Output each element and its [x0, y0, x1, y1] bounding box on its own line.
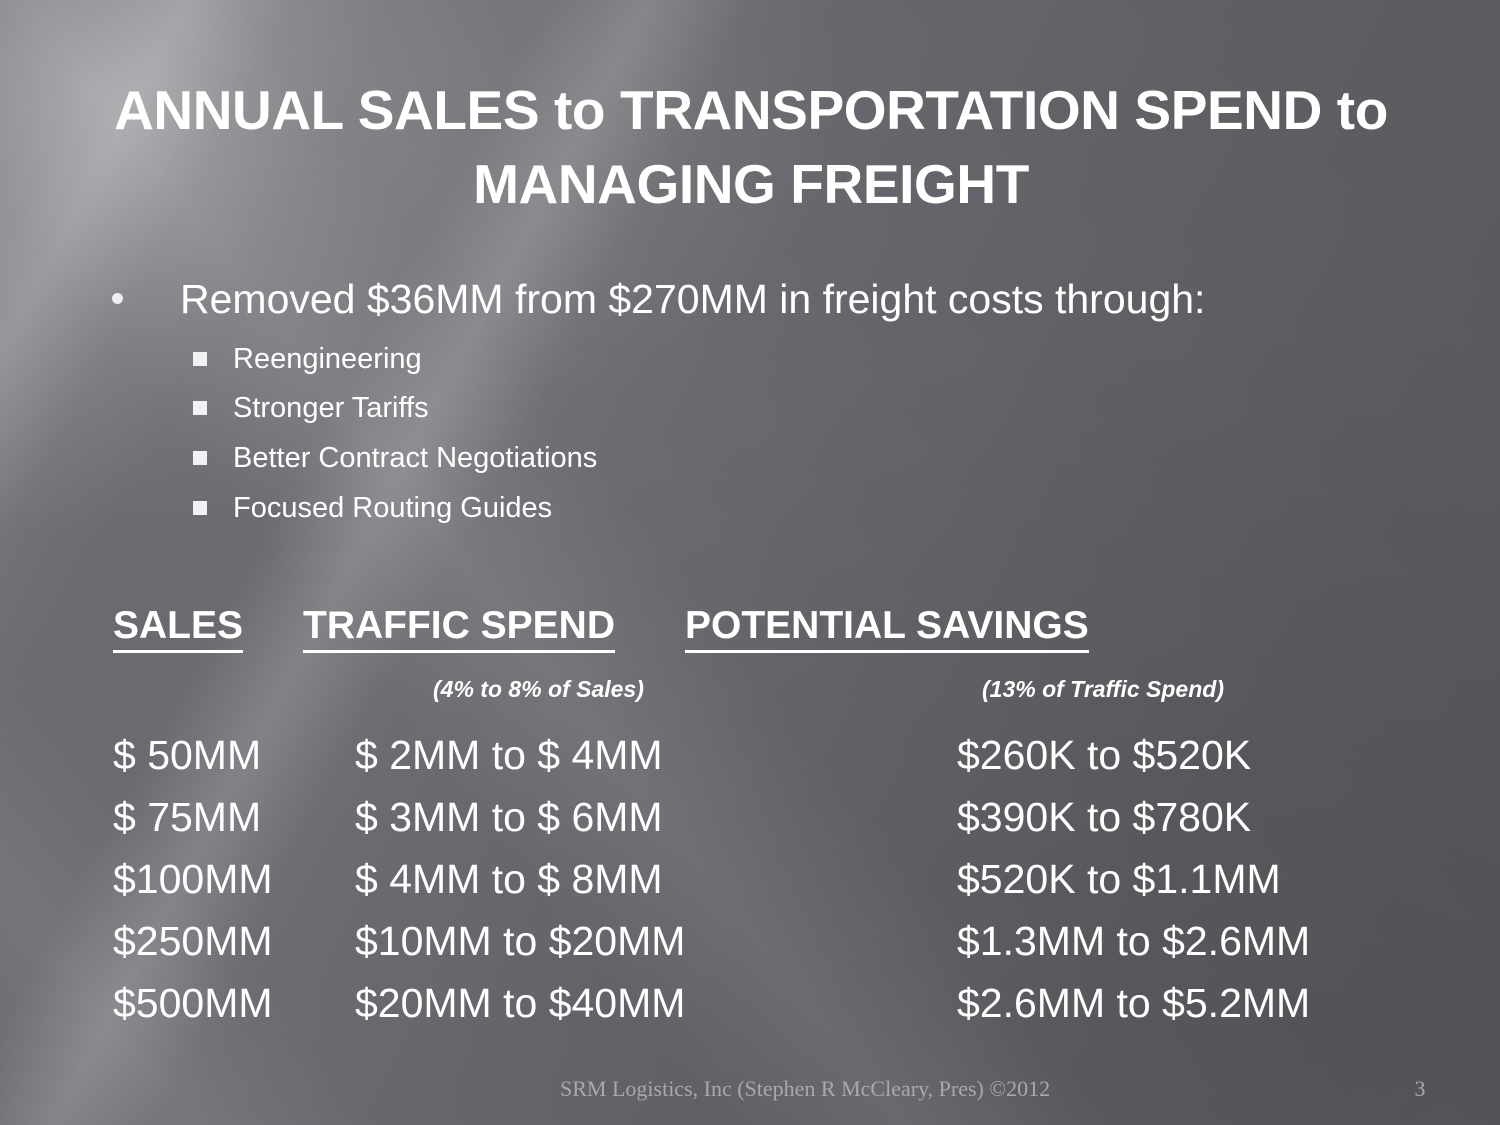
- cell-traffic-spend: $10MM to $20MM: [355, 910, 685, 972]
- cell-traffic-spend: $ 3MM to $ 6MM: [355, 786, 663, 848]
- table-row: $500MM $20MM to $40MM $2.6MM to $5.2MM: [0, 972, 1500, 1034]
- cell-potential-savings: $1.3MM to $2.6MM: [957, 910, 1310, 972]
- cell-potential-savings: $2.6MM to $5.2MM: [957, 972, 1310, 1034]
- column-header-traffic-spend: TRAFFIC SPEND: [303, 604, 615, 653]
- slide-footer: SRM Logistics, Inc (Stephen R McCleary, …: [560, 1076, 1260, 1102]
- bullet-item-level1: Removed $36MM from $270MM in freight cos…: [0, 272, 1400, 327]
- table-row: $ 75MM $ 3MM to $ 6MM $390K to $780K: [0, 786, 1500, 848]
- square-bullet-icon: [193, 401, 207, 415]
- slide-body: Removed $36MM from $270MM in freight cos…: [0, 272, 1500, 534]
- table-row: $ 50MM $ 2MM to $ 4MM $260K to $520K: [0, 724, 1500, 786]
- bullet-item-contract-negotiations: Better Contract Negotiations: [0, 434, 1500, 484]
- cell-traffic-spend: $ 2MM to $ 4MM: [355, 724, 663, 786]
- table-column-headers: SALES TRAFFIC SPEND POTENTIAL SAVINGS: [0, 604, 1500, 650]
- presentation-slide: ANNUAL SALES to TRANSPORTATION SPEND to …: [0, 0, 1500, 1125]
- data-table: $ 50MM $ 2MM to $ 4MM $260K to $520K $ 7…: [0, 724, 1500, 1034]
- round-bullet-icon: [112, 293, 123, 304]
- square-bullet-icon: [193, 501, 207, 515]
- bullet-label: Stronger Tariffs: [233, 392, 429, 424]
- column-header-sales: SALES: [113, 604, 243, 653]
- table-row: $100MM $ 4MM to $ 8MM $520K to $1.1MM: [0, 848, 1500, 910]
- cell-sales: $100MM: [113, 848, 273, 910]
- cell-sales: $500MM: [113, 972, 273, 1034]
- cell-traffic-spend: $ 4MM to $ 8MM: [355, 848, 663, 910]
- cell-potential-savings: $260K to $520K: [957, 724, 1251, 786]
- table-row: $250MM $10MM to $20MM $1.3MM to $2.6MM: [0, 910, 1500, 972]
- column-header-potential-savings: POTENTIAL SAVINGS: [685, 604, 1089, 653]
- bullet-item-stronger-tariffs: Stronger Tariffs: [0, 384, 1500, 434]
- sub-header-traffic-spend-percent: (13% of Traffic Spend): [982, 676, 1224, 703]
- bullet-label: Focused Routing Guides: [233, 492, 552, 524]
- slide-page-number: 3: [1390, 1076, 1450, 1102]
- cell-potential-savings: $390K to $780K: [957, 786, 1251, 848]
- square-bullet-icon: [193, 451, 207, 465]
- table-sub-headers: (4% to 8% of Sales) (13% of Traffic Spen…: [0, 676, 1500, 708]
- cell-sales: $ 50MM: [113, 724, 261, 786]
- bullet-item-routing-guides: Focused Routing Guides: [0, 484, 1500, 534]
- bullet-label: Better Contract Negotiations: [233, 442, 597, 474]
- sub-header-sales-percent: (4% to 8% of Sales): [433, 676, 644, 703]
- bullet-item-reengineering: Reengineering: [0, 335, 1500, 385]
- cell-sales: $250MM: [113, 910, 273, 972]
- sub-bullet-list: Reengineering Stronger Tariffs Better Co…: [0, 335, 1500, 535]
- bullet-label: Reengineering: [233, 343, 422, 375]
- square-bullet-icon: [193, 352, 207, 366]
- cell-traffic-spend: $20MM to $40MM: [355, 972, 685, 1034]
- slide-title: ANNUAL SALES to TRANSPORTATION SPEND to …: [96, 74, 1406, 221]
- cell-sales: $ 75MM: [113, 786, 261, 848]
- bullet-label: Removed $36MM from $270MM in freight cos…: [180, 276, 1205, 322]
- cell-potential-savings: $520K to $1.1MM: [957, 848, 1281, 910]
